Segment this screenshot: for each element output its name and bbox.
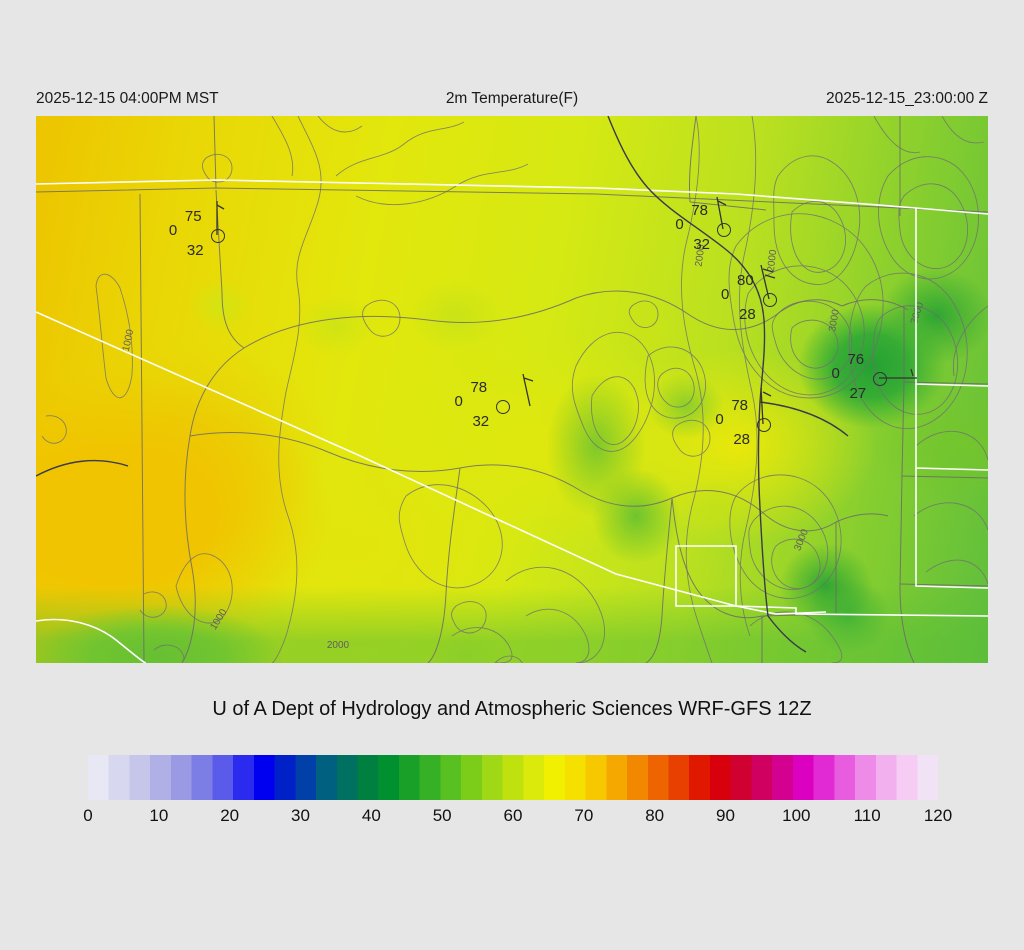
header-bar: 2025-12-15 04:00PM MST 2m Temperature(F)… bbox=[0, 88, 1024, 110]
colorbar-tick-80: 80 bbox=[645, 806, 664, 826]
colorbar-tick-90: 90 bbox=[716, 806, 735, 826]
colorbar-tick-120: 120 bbox=[924, 806, 952, 826]
colorbar-tick-labels: 0102030405060708090100110120 bbox=[88, 806, 938, 832]
colorbar-tick-70: 70 bbox=[574, 806, 593, 826]
colorbar bbox=[88, 755, 938, 800]
colorbar-tick-110: 110 bbox=[854, 806, 881, 826]
colorbar-tick-10: 10 bbox=[149, 806, 168, 826]
temperature-map[interactable]: 1000100020002000200030003000300030003000… bbox=[36, 116, 988, 663]
colorbar-tick-100: 100 bbox=[782, 806, 810, 826]
colorbar-tick-50: 50 bbox=[433, 806, 452, 826]
colorbar-tick-30: 30 bbox=[291, 806, 310, 826]
local-time-label: 2025-12-15 04:00PM MST bbox=[36, 88, 219, 110]
colorbar-tick-20: 20 bbox=[220, 806, 239, 826]
source-caption: U of A Dept of Hydrology and Atmospheric… bbox=[0, 698, 1024, 721]
page-title: 2m Temperature(F) bbox=[446, 88, 578, 110]
colorbar-gradient bbox=[88, 755, 938, 800]
wind-barb-layer bbox=[36, 116, 988, 663]
colorbar-tick-0: 0 bbox=[83, 806, 92, 826]
colorbar-tick-40: 40 bbox=[362, 806, 381, 826]
utc-time-label: 2025-12-15_23:00:00 Z bbox=[826, 88, 988, 110]
colorbar-tick-60: 60 bbox=[504, 806, 523, 826]
